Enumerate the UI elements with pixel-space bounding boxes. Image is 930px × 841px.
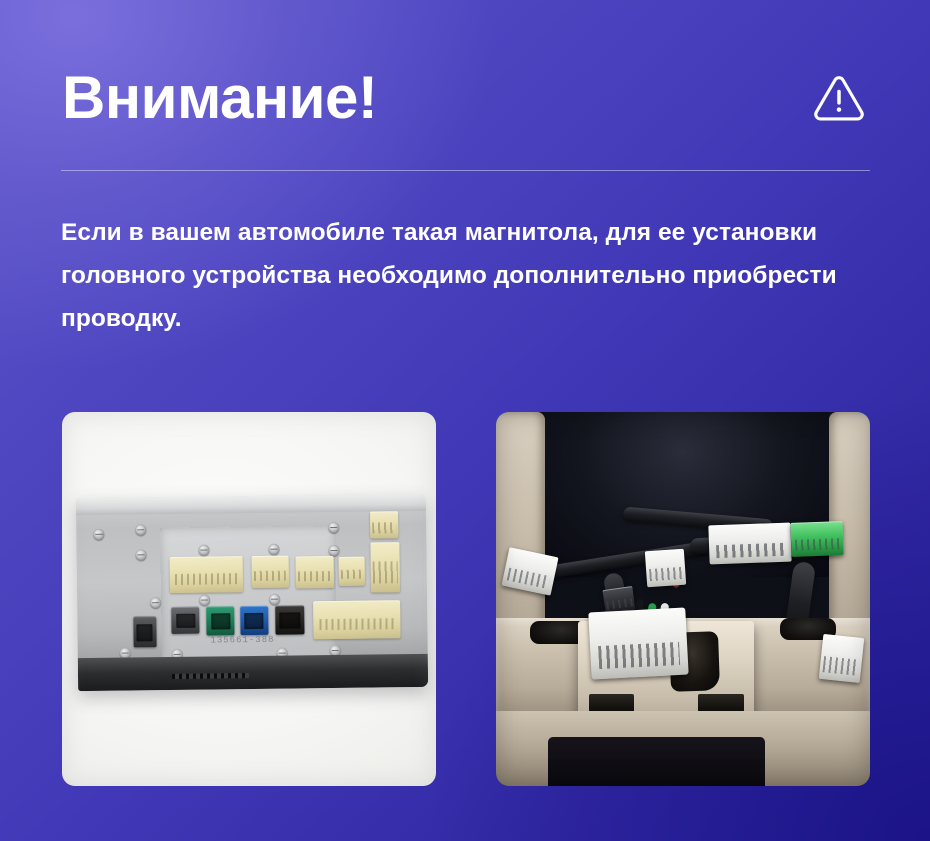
connector-cream (251, 555, 288, 588)
dash-photo-content (496, 412, 870, 786)
connector-plug-white-large (588, 608, 689, 680)
connector-plug-white-small (644, 549, 686, 587)
chassis-center-plate (160, 526, 337, 667)
socket-square-dark (133, 617, 156, 648)
socket-mouth (244, 613, 264, 629)
connector-cream (370, 512, 398, 539)
body-text: Если в вашем автомобиле такая магнитола,… (61, 211, 879, 340)
connector-cream-wide (313, 600, 401, 640)
socket-mouth (176, 614, 196, 629)
plug-pins (597, 642, 680, 669)
dash-lower-opening (548, 737, 765, 786)
chassis-screw (328, 545, 339, 556)
plug-pins (649, 567, 683, 581)
head-unit-rear-photo[interactable]: 135661-388 (62, 412, 436, 786)
plug-pins (796, 538, 840, 551)
connector-cream (370, 542, 400, 592)
plug-pins (823, 657, 859, 676)
bracket-slot (589, 694, 635, 712)
chassis-screw (94, 529, 105, 540)
warning-triangle-icon (810, 69, 868, 127)
connector-cream (339, 556, 366, 585)
plug-pins (607, 598, 633, 610)
socket-mouth (279, 613, 300, 629)
socket-dark (172, 607, 200, 634)
connector-plug-white-multi (709, 523, 793, 565)
socket-mouth (137, 625, 153, 642)
socket-mouth (211, 614, 231, 630)
plug-pins (716, 543, 786, 559)
chassis-bottom-lip (78, 654, 428, 691)
connector-plug-green (791, 521, 845, 556)
head-unit-photo-content: 135661-388 (62, 412, 436, 786)
connector-cream (169, 556, 243, 593)
chassis-screw (136, 524, 147, 535)
photo-row: 135661-388 (62, 412, 870, 786)
page-title: Внимание! (62, 68, 377, 128)
socket-green (206, 606, 234, 635)
head-unit-chassis: 135661-388 (76, 494, 428, 691)
connector-cream (295, 556, 334, 589)
bracket-slot (698, 694, 744, 712)
chassis-screw (328, 522, 339, 533)
pcb-part-label: 135661-388 (210, 635, 274, 646)
dash-trim-bottom (496, 711, 870, 786)
connector-plug-white-right (819, 634, 865, 683)
warning-slide: Внимание! Если в вашем автомобиле такая … (0, 0, 930, 841)
chassis-screw (136, 549, 147, 560)
chassis-screw (150, 597, 161, 608)
socket-black (275, 605, 305, 634)
socket-blue (240, 606, 268, 635)
dash-wiring-harness-photo[interactable] (496, 412, 870, 786)
header-divider (61, 170, 870, 171)
header: Внимание! (62, 52, 870, 144)
plug-pins (507, 567, 551, 589)
